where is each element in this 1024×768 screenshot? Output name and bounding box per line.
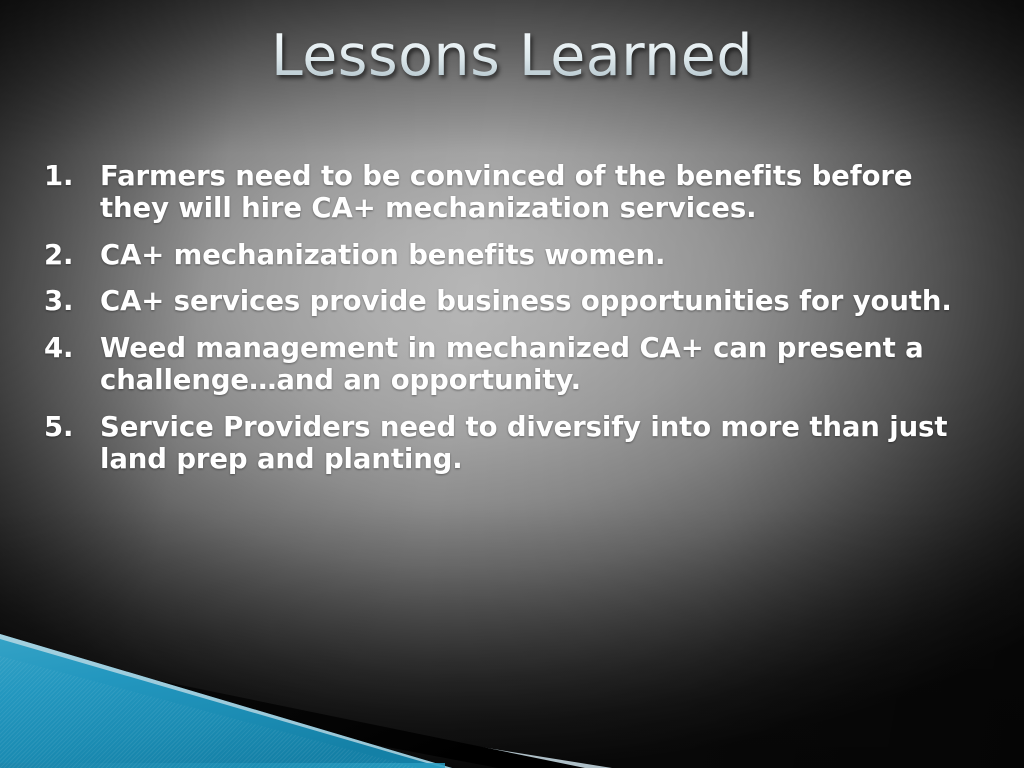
list-item-text: CA+ services provide business opportunit… <box>100 285 976 317</box>
body-content: 1. Farmers need to be convinced of the b… <box>36 160 988 490</box>
list-item-number: 4. <box>44 332 88 364</box>
list-item-text: CA+ mechanization benefits women. <box>100 239 976 271</box>
list-item-number: 3. <box>44 285 88 317</box>
list-item: 3. CA+ services provide business opportu… <box>36 285 976 317</box>
list-item-text: Service Providers need to diversify into… <box>100 411 976 476</box>
list-item: 5. Service Providers need to diversify i… <box>36 411 976 476</box>
lessons-list: 1. Farmers need to be convinced of the b… <box>36 160 988 476</box>
title-container: Lessons Learned <box>0 27 1024 85</box>
list-item-text: Weed management in mechanized CA+ can pr… <box>100 332 976 397</box>
slide-title: Lessons Learned <box>271 27 753 85</box>
list-item-number: 5. <box>44 411 88 443</box>
list-item: 4. Weed management in mechanized CA+ can… <box>36 332 976 397</box>
list-item: 2. CA+ mechanization benefits women. <box>36 239 976 271</box>
list-item-number: 1. <box>44 160 88 192</box>
list-item-text: Farmers need to be convinced of the bene… <box>100 160 976 225</box>
list-item-number: 2. <box>44 239 88 271</box>
slide-canvas: Lessons Learned 1. Farmers need to be co… <box>0 0 1024 768</box>
list-item: 1. Farmers need to be convinced of the b… <box>36 160 976 225</box>
